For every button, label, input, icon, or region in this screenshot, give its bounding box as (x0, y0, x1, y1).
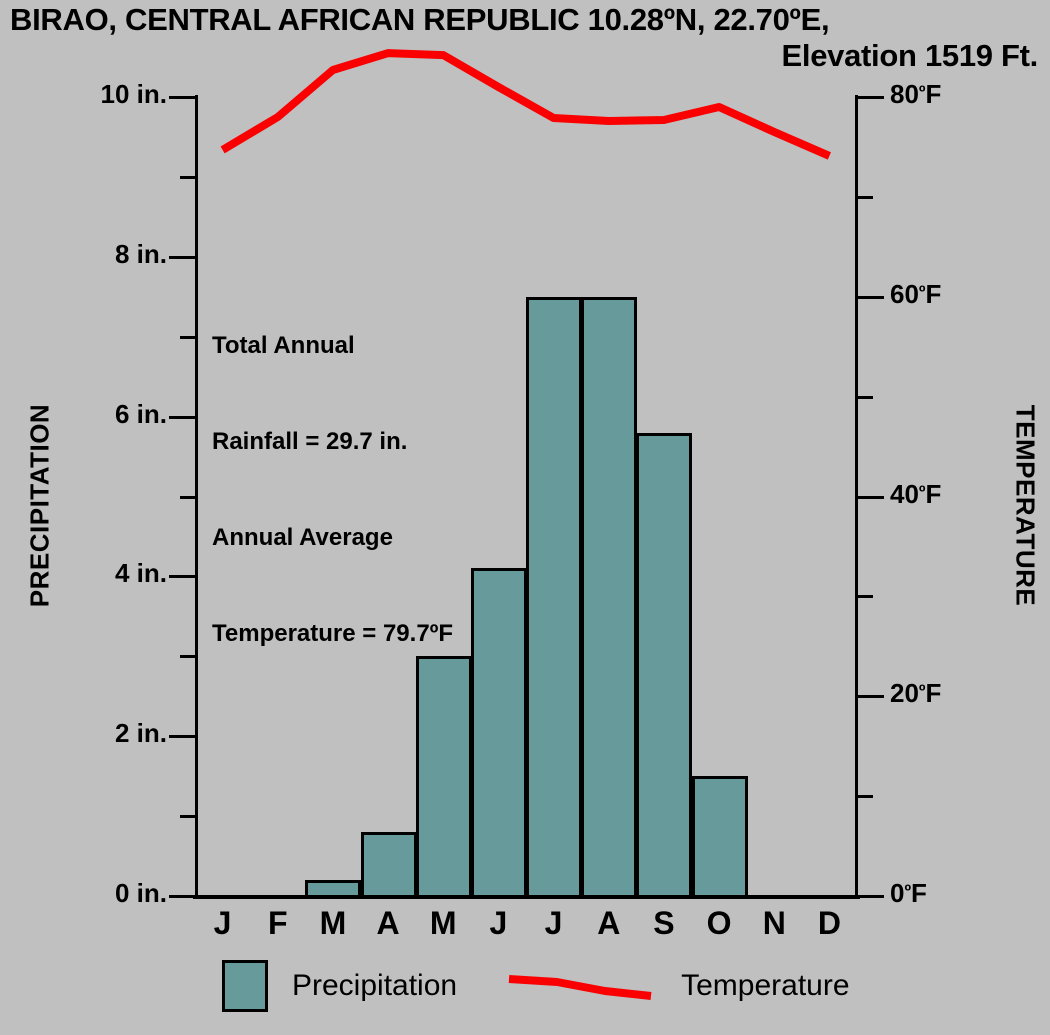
y-tick-label-right-0: 0ºF (890, 878, 927, 909)
y-tick-label-left-6: 6 in. (115, 399, 167, 430)
y-axis-right-title: TEMPERATURE (1010, 356, 1041, 656)
y-tick-label-left-10: 10 in. (101, 79, 167, 110)
y-axis-left-title: PRECIPITATION (25, 356, 56, 656)
x-axis-label-december: D (801, 905, 857, 942)
bar-O-9 (692, 776, 748, 898)
y-minor-tick-left-3 (180, 655, 195, 658)
y-tick-label-right-80: 80ºF (890, 79, 941, 110)
y-tick-right-40 (858, 496, 884, 499)
y-tick-left-2 (169, 735, 195, 738)
x-axis-label-march: M (305, 905, 361, 942)
x-axis-label-november: N (746, 905, 802, 942)
x-axis-label-april: A (360, 905, 416, 942)
y-tick-right-80 (858, 96, 884, 99)
bar-A-3 (361, 832, 417, 898)
annotation-line-3: Annual Average (212, 522, 453, 554)
y-tick-right-60 (858, 296, 884, 299)
y-tick-label-right-20: 20ºF (890, 678, 941, 709)
x-axis-label-september: S (636, 905, 692, 942)
y-tick-left-8 (169, 256, 195, 259)
legend-temperature-line-svg (505, 971, 655, 1001)
chart-title-line-2: Elevation 1519 Ft. (0, 38, 1046, 74)
bar-A-7 (581, 297, 637, 898)
y-tick-left-6 (169, 416, 195, 419)
legend-precipitation-label: Precipitation (292, 969, 457, 1003)
y-minor-tick-left-9 (180, 176, 195, 179)
x-axis-label-october: O (691, 905, 747, 942)
x-axis-label-july: J (526, 905, 582, 942)
x-axis-label-february: F (250, 905, 306, 942)
legend-precipitation-swatch (222, 960, 268, 1012)
y-minor-tick-right-10 (858, 795, 873, 798)
y-tick-left-4 (169, 575, 195, 578)
y-tick-left-10 (169, 96, 195, 99)
y-tick-right-0 (858, 895, 884, 898)
x-axis-label-august: A (581, 905, 637, 942)
legend-temperature-label: Temperature (681, 969, 849, 1003)
y-minor-tick-left-5 (180, 496, 195, 499)
annotation-line-1: Total Annual (212, 330, 453, 362)
y-tick-label-right-40: 40ºF (890, 479, 941, 510)
y-minor-tick-right-30 (858, 595, 873, 598)
chart-title: BIRAO, CENTRAL AFRICAN REPUBLIC 10.28ºN,… (0, 2, 1046, 74)
y-tick-right-20 (858, 695, 884, 698)
x-axis-label-june: J (470, 905, 526, 942)
summary-annotation: Total Annual Rainfall = 29.7 in. Annual … (212, 266, 453, 714)
annotation-line-2: Rainfall = 29.7 in. (212, 426, 453, 458)
x-axis-label-may: M (415, 905, 471, 942)
chart-legend: Precipitation Temperature (222, 960, 850, 1012)
bar-M-2 (305, 880, 361, 898)
y-tick-label-left-0: 0 in. (115, 878, 167, 909)
annotation-line-4: Temperature = 79.7ºF (212, 618, 453, 650)
legend-temperature-line-icon (505, 971, 655, 1001)
y-tick-label-left-2: 2 in. (115, 718, 167, 749)
x-axis-label-january: J (195, 905, 251, 942)
y-axis-left-line (195, 95, 198, 898)
bar-J-5 (471, 568, 527, 898)
bar-S-8 (636, 433, 692, 898)
y-tick-label-left-4: 4 in. (115, 558, 167, 589)
y-tick-label-right-60: 60ºF (890, 279, 941, 310)
y-minor-tick-left-7 (180, 336, 195, 339)
y-minor-tick-right-70 (858, 196, 873, 199)
bar-J-6 (526, 297, 582, 898)
climate-chart: BIRAO, CENTRAL AFRICAN REPUBLIC 10.28ºN,… (0, 0, 1050, 1035)
y-minor-tick-right-50 (858, 396, 873, 399)
y-tick-left-0 (169, 895, 195, 898)
chart-title-line-1: BIRAO, CENTRAL AFRICAN REPUBLIC 10.28ºN,… (0, 2, 1046, 38)
y-minor-tick-left-1 (180, 815, 195, 818)
y-tick-label-left-8: 8 in. (115, 239, 167, 270)
